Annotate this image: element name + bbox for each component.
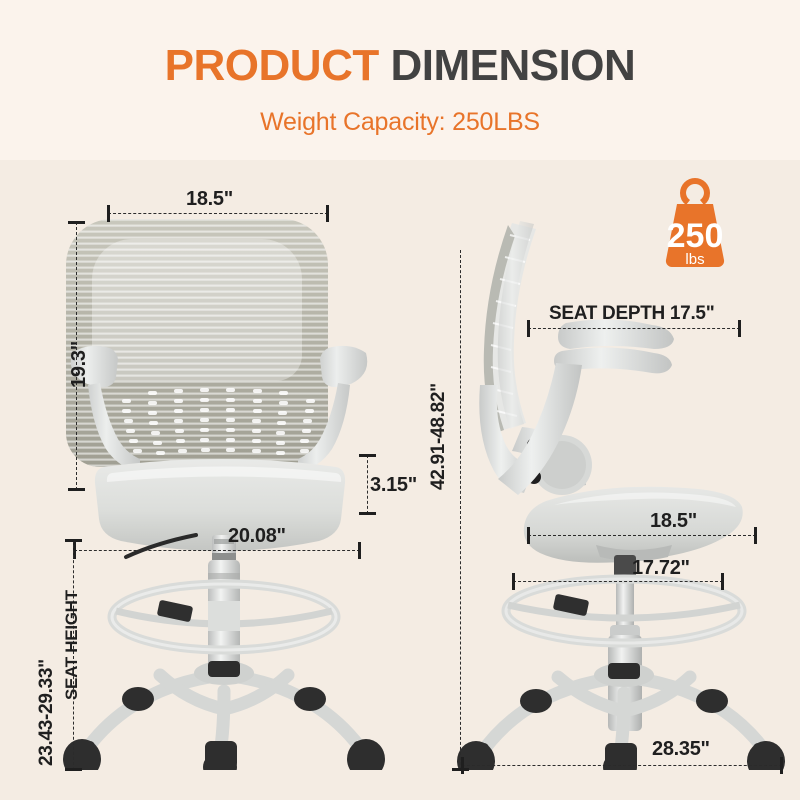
caster [122, 687, 154, 711]
dim-label-footrest-width: 17.72" [632, 557, 690, 580]
dim-label-backrest-height: 19.3" [68, 341, 91, 388]
dim-cap-bottom [359, 512, 376, 515]
title-orange-part: PRODUCT [165, 41, 379, 90]
dim-line-footrest-width [513, 581, 723, 582]
base-hub-cap [208, 661, 240, 677]
dim-line-base-diameter [462, 765, 782, 766]
title-dark-part: DIMENSION [379, 41, 636, 90]
dim-line-seat-depth [528, 328, 740, 329]
dim-cap-right [754, 527, 757, 544]
caster [467, 743, 489, 765]
dim-cap-left [512, 573, 515, 590]
caster [294, 687, 326, 711]
dim-cap-right [780, 757, 783, 774]
dim-cap-left [107, 205, 110, 222]
dim-label-front-base-width: 20.08" [228, 525, 286, 548]
caster [696, 689, 728, 713]
dim-label-seat-width-side: 18.5" [650, 510, 697, 533]
dim-cap-left [461, 757, 464, 774]
dim-line-seat-thickness [367, 455, 368, 514]
dim-cap-top [65, 539, 82, 542]
front-view-chair [60, 205, 390, 770]
dim-cap-bottom [65, 768, 82, 771]
product-dimension-infographic: PRODUCT DIMENSION Weight Capacity: 250LB… [0, 0, 800, 800]
dim-label-backrest-width: 18.5" [186, 188, 233, 211]
side-view-chair [450, 215, 790, 770]
caster [353, 741, 375, 763]
caster [753, 743, 775, 765]
dim-cap-top [359, 454, 376, 457]
dim-line-overall-height [460, 250, 461, 770]
dim-label-seat-depth: SEAT DEPTH 17.5" [549, 303, 714, 325]
dim-cap-right [326, 205, 329, 222]
dim-label-seat-thickness: 3.15" [370, 474, 417, 497]
weight-capacity-subtitle: Weight Capacity: 250LBS [0, 108, 800, 137]
dim-cap-left [527, 320, 530, 337]
dim-label-seat-height: 23.43-29.33" [36, 659, 58, 766]
caster [205, 741, 237, 769]
dim-cap-bottom [68, 488, 85, 491]
dim-cap-left [527, 527, 530, 544]
dim-cap-right [721, 573, 724, 590]
dim-cap-right [358, 542, 361, 559]
dim-line-backrest-width [108, 213, 328, 214]
dim-label-base-diameter: 28.35" [652, 738, 710, 761]
dim-cap-right [738, 320, 741, 337]
caster [73, 741, 95, 763]
dim-line-seat-width-side [528, 535, 756, 536]
dim-line-front-base-width [74, 550, 360, 551]
dim-cap-top [68, 221, 85, 224]
base-hub-cap [608, 663, 640, 679]
caster [520, 689, 552, 713]
dim-label-seat-height-text: SEAT HEIGHT [62, 590, 82, 700]
page-title: PRODUCT DIMENSION [0, 44, 800, 88]
dim-label-overall-height: 42.91-48.82" [428, 383, 450, 490]
